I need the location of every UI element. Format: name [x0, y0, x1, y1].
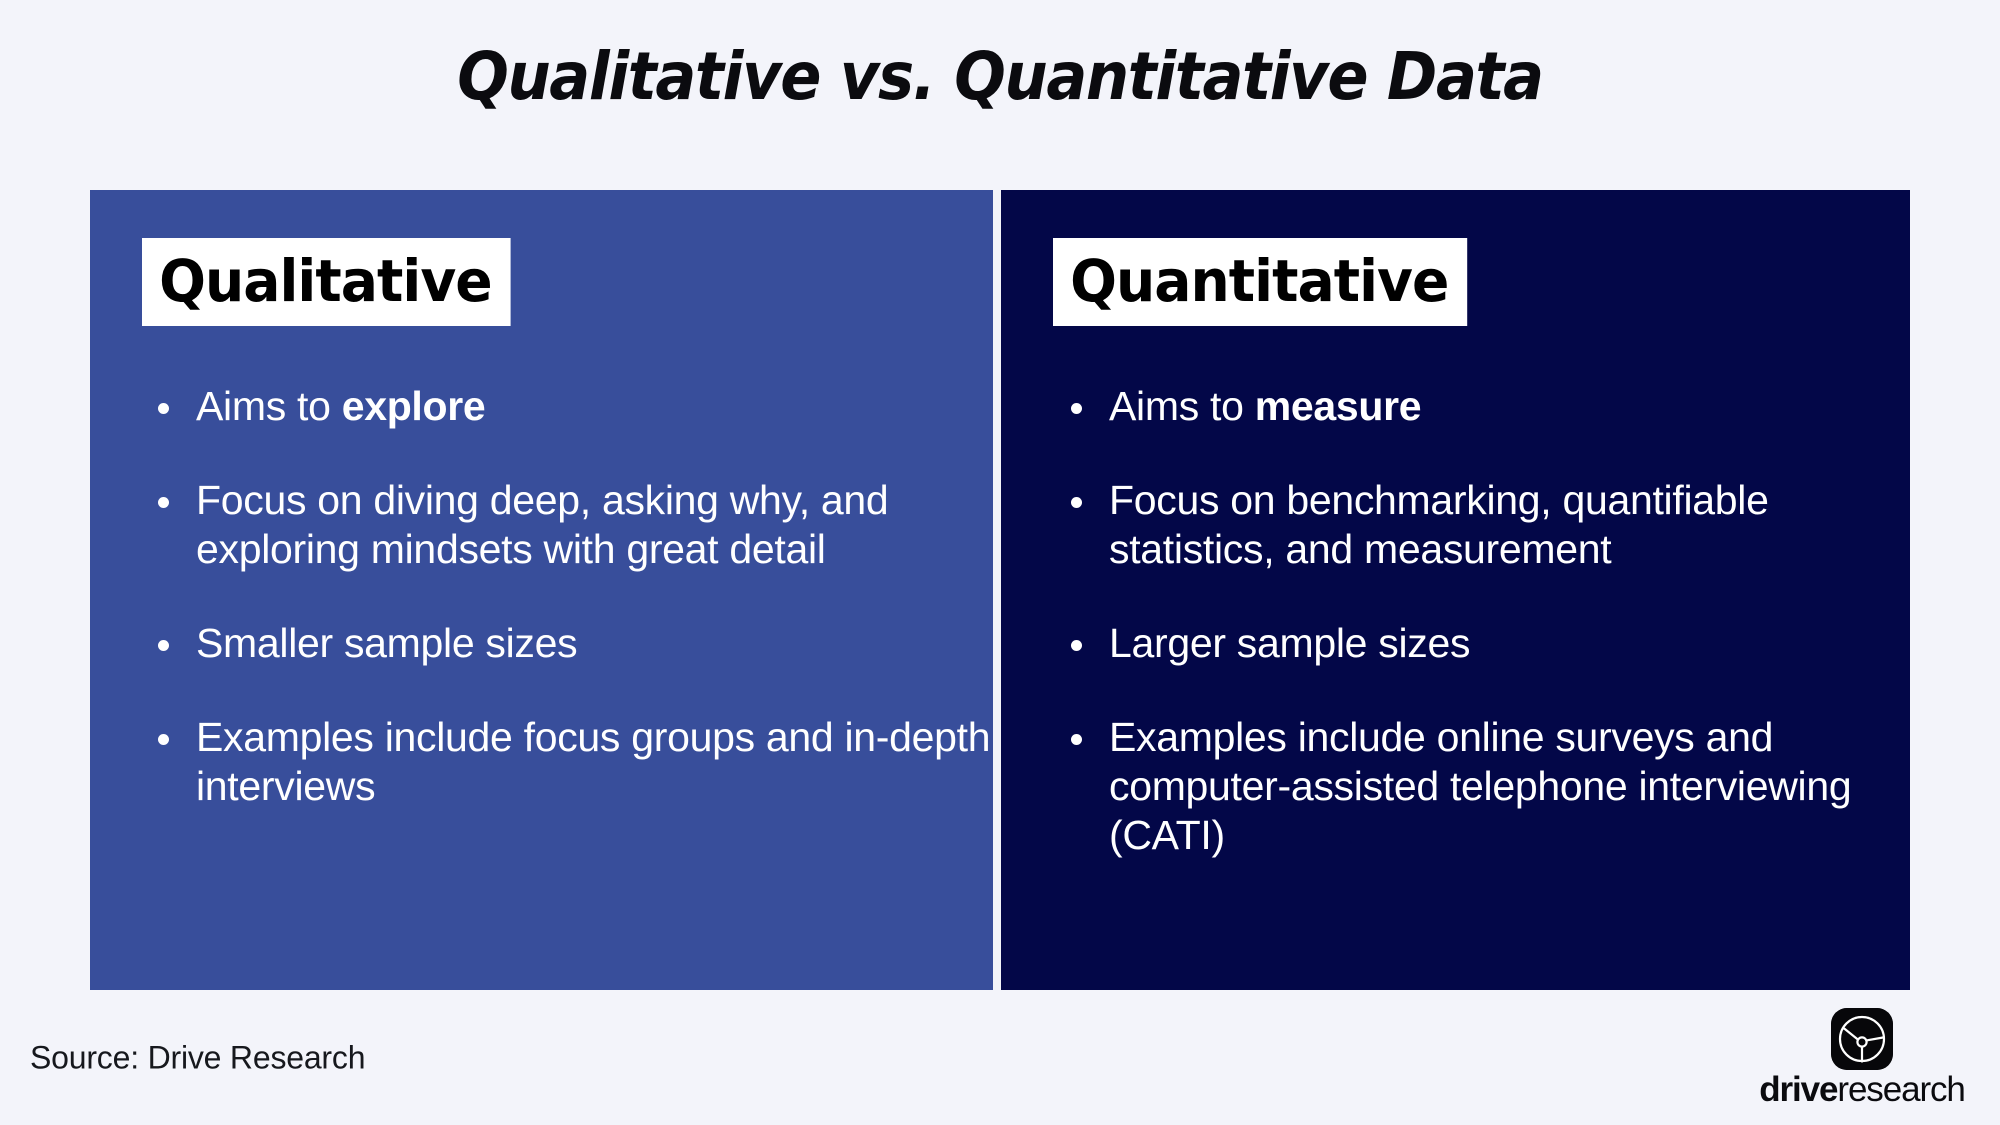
panel-header-quantitative: Quantitative	[1053, 238, 1467, 326]
list-item: Aims to explore	[142, 382, 993, 431]
brand-logo: driveresearch	[1742, 1008, 1982, 1113]
list-item: Focus on benchmarking, quantifiable stat…	[1055, 476, 1910, 574]
brand-wordmark: driveresearch	[1759, 1072, 1965, 1107]
bullet-dot-icon	[158, 403, 169, 414]
bullet-emphasis: explore	[342, 383, 486, 429]
bullet-list-quantitative: Aims to measure Focus on benchmarking, q…	[1055, 382, 1910, 860]
list-item: Larger sample sizes	[1055, 619, 1910, 668]
bullet-dot-icon	[1071, 403, 1082, 414]
bullet-dot-icon	[158, 497, 169, 508]
bullet-emphasis: measure	[1255, 383, 1422, 429]
bullet-dot-icon	[158, 640, 169, 651]
list-item: Aims to measure	[1055, 382, 1910, 431]
bullet-list-qualitative: Aims to explore Focus on diving deep, as…	[142, 382, 993, 811]
list-item: Examples include focus groups and in-dep…	[142, 713, 993, 811]
bullet-dot-icon	[1071, 734, 1082, 745]
bullet-dot-icon	[1071, 497, 1082, 508]
steering-wheel-icon	[1831, 1008, 1893, 1070]
bullet-dot-icon	[1071, 640, 1082, 651]
panel-header-qualitative: Qualitative	[142, 238, 511, 326]
bullet-dot-icon	[158, 734, 169, 745]
brand-word-research: research	[1837, 1070, 1964, 1109]
panel-divider	[993, 190, 1001, 990]
bullet-text: Focus on diving deep, asking why, and ex…	[196, 477, 888, 572]
infographic-page: Qualitative vs. Quantitative Data Qualit…	[0, 0, 2000, 1125]
list-item: Examples include online surveys and comp…	[1055, 713, 1910, 860]
bullet-text: Examples include online surveys and comp…	[1109, 714, 1851, 858]
brand-word-drive: drive	[1759, 1070, 1837, 1109]
bullet-text: Aims to	[196, 383, 342, 429]
bullet-text: Examples include focus groups and in-dep…	[196, 714, 990, 809]
source-label: Source: Drive Research	[30, 1040, 365, 1077]
bullet-text: Focus on benchmarking, quantifiable stat…	[1109, 477, 1769, 572]
bullet-text: Aims to	[1109, 383, 1255, 429]
panel-quantitative: Quantitative Aims to measure Focus on be…	[1001, 190, 1910, 990]
page-title: Qualitative vs. Quantitative Data	[80, 38, 1920, 115]
comparison-panels: Qualitative Aims to explore Focus on div…	[90, 190, 1910, 990]
list-item: Focus on diving deep, asking why, and ex…	[142, 476, 993, 574]
list-item: Smaller sample sizes	[142, 619, 993, 668]
panel-qualitative: Qualitative Aims to explore Focus on div…	[90, 190, 993, 990]
bullet-text: Smaller sample sizes	[196, 620, 577, 666]
bullet-text: Larger sample sizes	[1109, 620, 1470, 666]
